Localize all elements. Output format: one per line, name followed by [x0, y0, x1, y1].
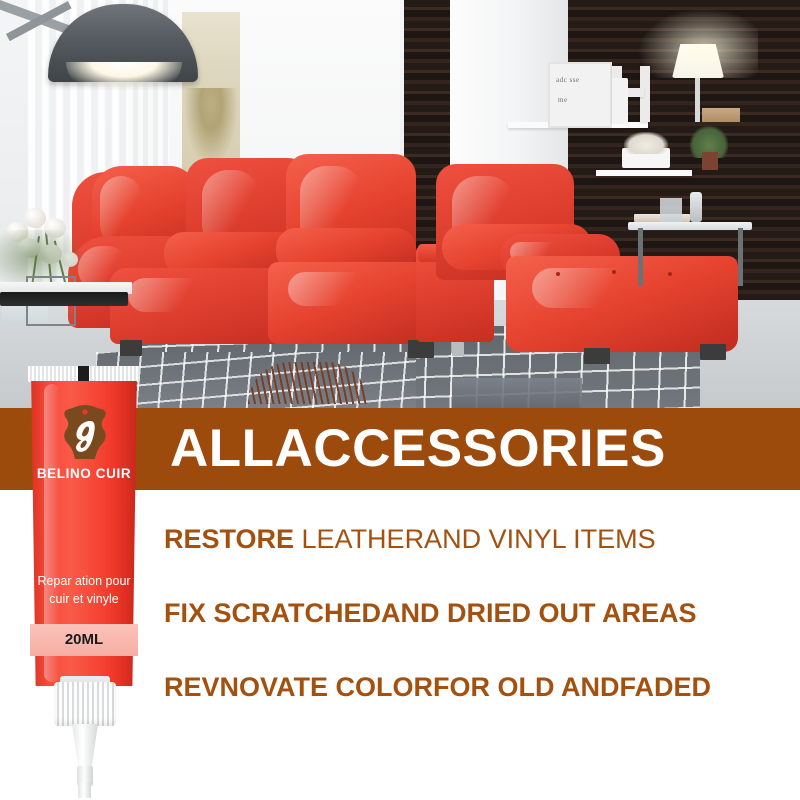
side-table-top: [628, 222, 752, 230]
sofa-foot-center: [408, 340, 434, 358]
tuft-2: [612, 270, 616, 274]
tube-description-line-1: Repar ation pour: [24, 572, 144, 590]
table-lamp-stem: [695, 78, 700, 122]
feature-2-emphasis: FIX: [164, 598, 206, 628]
small-vase: [612, 78, 628, 124]
lamp-glow: [638, 8, 758, 78]
feature-line-2: FIX SCRATCHEDAND DRIED OUT AREAS: [164, 598, 697, 629]
product-tube: BELINO CUIR Repar ation pour cuir et vin…: [14, 366, 154, 786]
feature-1-emphasis: RESTORE: [164, 524, 294, 554]
sofa-foot-left: [120, 340, 142, 356]
books-stack: [702, 108, 740, 122]
sofa-seat-cushion-right: [268, 262, 436, 344]
tube-nozzle-tip: [78, 782, 91, 798]
chaise-foot-left: [584, 348, 610, 364]
wall-shelf-lower: [596, 170, 692, 176]
white-flowers-shelf: [624, 132, 668, 154]
leather-hide-icon: [62, 404, 108, 462]
tube-nozzle: [72, 724, 98, 770]
side-table-leg-right: [738, 228, 743, 286]
brand-logo: BELINO CUIR: [29, 404, 139, 482]
feature-2-rest: SCRATCHEDAND DRIED OUT AREAS: [206, 598, 697, 628]
frame-text-line2: me: [558, 96, 568, 104]
feature-line-3: REVNOVATE COLORFOR OLD ANDFADED: [164, 672, 711, 703]
pen-cup: [660, 198, 682, 222]
tube-description: Repar ation pour cuir et vinyle: [24, 572, 144, 608]
feature-line-1: RESTORE LEATHERAND VINYL ITEMS: [164, 524, 656, 555]
feature-list: RESTORE LEATHERAND VINYL ITEMS FIX SCRAT…: [164, 490, 800, 800]
frame-text-line1: adc sse: [556, 76, 580, 84]
lifestyle-photo: adc sse me: [0, 0, 800, 408]
candle-holder: [690, 192, 702, 222]
tube-description-line-2: cuir et vinyle: [24, 590, 144, 608]
hanging-plant: [184, 88, 238, 168]
chaise-foot-right: [700, 344, 726, 360]
tube-seal-marker: [78, 366, 89, 382]
chaise-seat: [506, 256, 738, 352]
tuft-1: [556, 272, 560, 276]
sofa-seat-cushion-left: [110, 268, 290, 344]
feature-3-emphasis: REVNOVATE: [164, 672, 328, 702]
rug-dark-panel: [452, 378, 582, 408]
headline-title: ALLACCESSORIES: [170, 413, 790, 485]
brand-name: BELINO CUIR: [29, 466, 139, 481]
picture-frame: [548, 62, 612, 128]
tuft-3: [668, 272, 672, 276]
plant-pot: [702, 152, 718, 170]
product-banner-page: adc sse me: [0, 0, 800, 800]
feature-1-rest: LEATHERAND VINYL ITEMS: [294, 524, 656, 554]
volume-label: 20ML: [30, 624, 138, 656]
side-table-leg-left: [638, 228, 643, 286]
console-table-base: [0, 292, 128, 306]
tube-cap: [54, 682, 116, 726]
console-foot: [452, 342, 464, 356]
floor-lamp-light: [66, 62, 182, 88]
feature-3-rest: COLORFOR OLD ANDFADED: [328, 672, 711, 702]
